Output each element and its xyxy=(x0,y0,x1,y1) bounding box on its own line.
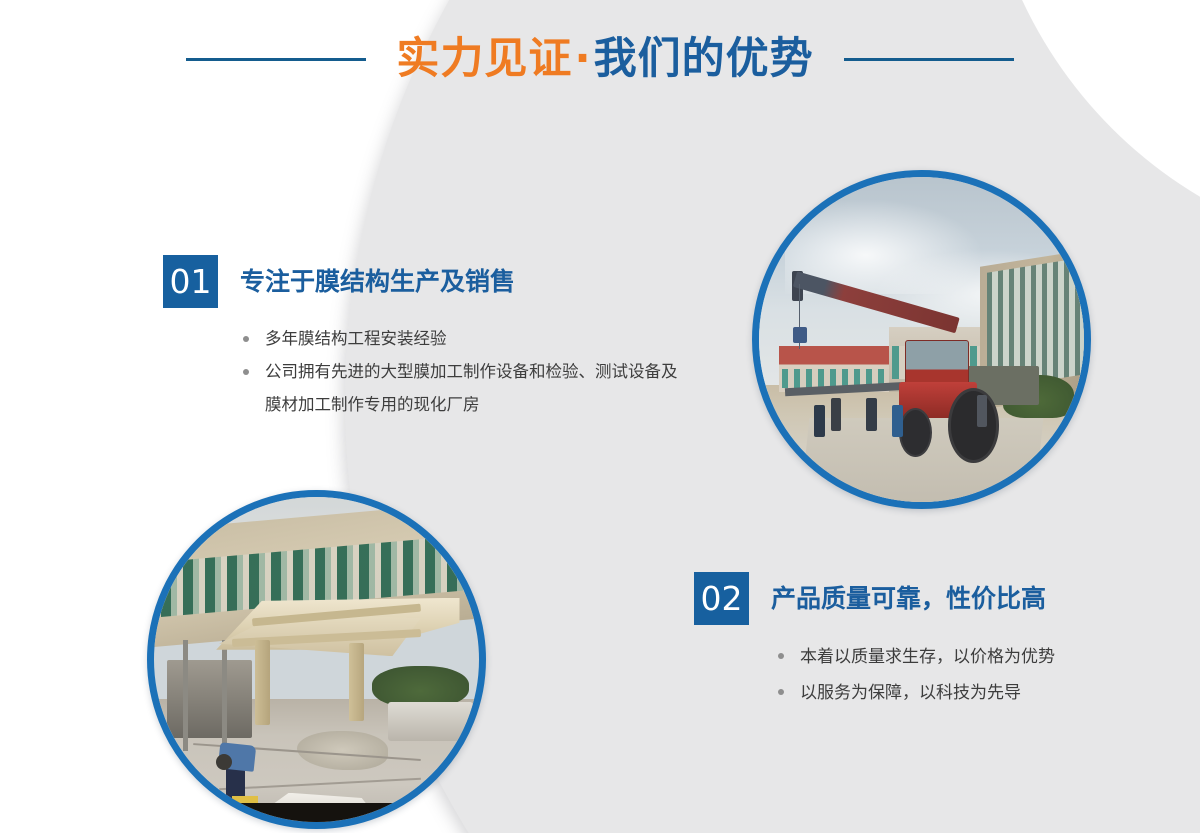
canopy-column xyxy=(349,643,364,721)
crane-hook-block xyxy=(793,327,808,343)
bullet-dot-icon xyxy=(243,336,249,342)
canopy-column xyxy=(255,640,270,725)
bullet-dot-icon xyxy=(243,369,249,375)
material-bags xyxy=(388,702,473,741)
bullet-dot-icon xyxy=(778,653,784,659)
list-item: 以服务为保障，以科技为先导 xyxy=(776,675,1114,711)
worker-figure xyxy=(866,398,876,431)
worker-figure xyxy=(977,395,987,428)
page-title-blue: 我们的优势 xyxy=(594,34,814,84)
tractor-front-wheel xyxy=(899,408,932,458)
worker-head xyxy=(216,754,232,770)
bullet-text: 多年膜结构工程安装经验 xyxy=(265,329,447,348)
photo-membrane-carport xyxy=(147,490,486,829)
feature-01-bullet-list: 多年膜结构工程安装经验 公司拥有先进的大型膜加工制作设备和检验、测试设备及膜材加… xyxy=(241,322,683,421)
page-title-orange: 实力见证 xyxy=(396,34,572,84)
tractor-rear-wheel xyxy=(948,388,1000,462)
worker-figure xyxy=(814,405,824,438)
list-item: 本着以质量求生存，以价格为优势 xyxy=(776,639,1114,675)
advantages-banner: 实力见证·我们的优势 01 专注于膜结构生产及销售 多年膜结构工程安装经验 公司… xyxy=(0,0,1200,833)
worker-figure xyxy=(892,405,902,438)
scaffold-pole xyxy=(183,640,188,751)
header-rule-right xyxy=(844,58,1014,61)
photo-bottom-shadow xyxy=(213,803,415,823)
photo-crane-tractor-content xyxy=(759,177,1084,502)
worker-figure xyxy=(831,398,841,431)
feature-01-head: 01 专注于膜结构生产及销售 xyxy=(163,255,683,308)
feature-02-number-badge: 02 xyxy=(694,572,749,625)
page-title: 实力见证·我们的优势 xyxy=(396,38,813,81)
photo-crane-tractor xyxy=(752,170,1091,509)
feature-01-title: 专注于膜结构生产及销售 xyxy=(240,255,515,308)
feature-02-bullet-list: 本着以质量求生存，以价格为优势 以服务为保障，以科技为先导 xyxy=(776,639,1114,711)
feature-02-head: 02 产品质量可靠，性价比高 xyxy=(694,572,1114,625)
page-header: 实力见证·我们的优势 xyxy=(0,0,1200,118)
bullet-text: 本着以质量求生存，以价格为优势 xyxy=(800,647,1055,667)
list-item: 多年膜结构工程安装经验 xyxy=(241,322,683,355)
feature-01-number-badge: 01 xyxy=(163,255,218,308)
header-rule-left xyxy=(186,58,366,61)
list-item: 公司拥有先进的大型膜加工制作设备和检验、测试设备及膜材加工制作专用的现化厂房 xyxy=(241,355,683,421)
bullet-dot-icon xyxy=(778,689,784,695)
feature-block-01: 01 专注于膜结构生产及销售 多年膜结构工程安装经验 公司拥有先进的大型膜加工制… xyxy=(163,255,683,421)
feature-02-title: 产品质量可靠，性价比高 xyxy=(771,572,1046,625)
bullet-text: 以服务为保障，以科技为先导 xyxy=(800,683,1021,703)
feature-block-02: 02 产品质量可靠，性价比高 本着以质量求生存，以价格为优势 以服务为保障，以科… xyxy=(694,572,1114,711)
photo-membrane-carport-content xyxy=(154,497,479,822)
site-machinery xyxy=(167,660,252,738)
bullet-text: 公司拥有先进的大型膜加工制作设备和检验、测试设备及膜材加工制作专用的现化厂房 xyxy=(265,362,678,414)
page-title-separator-dot: · xyxy=(572,34,593,84)
scaffold-pole xyxy=(222,640,227,744)
